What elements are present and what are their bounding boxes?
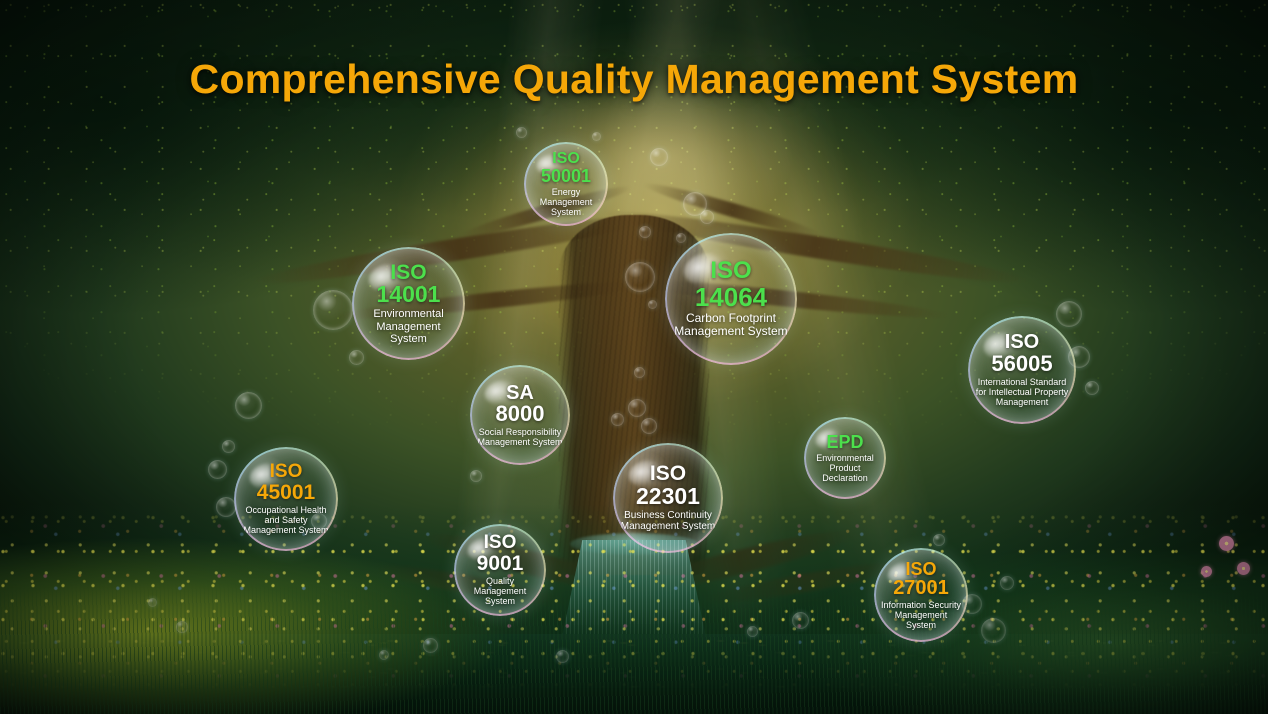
certification-code: ISO bbox=[710, 259, 751, 283]
certification-number: 8000 bbox=[496, 403, 545, 425]
certification-number: 27001 bbox=[893, 578, 949, 598]
certification-code: EPD bbox=[826, 433, 863, 451]
certification-code: ISO bbox=[650, 463, 686, 484]
certification-number: 9001 bbox=[477, 553, 524, 574]
poster-canvas: Comprehensive Quality Management System … bbox=[0, 0, 1268, 714]
certification-number: 22301 bbox=[636, 485, 700, 508]
certification-description: International Standard for Intellectual … bbox=[968, 377, 1076, 407]
certification-number: 56005 bbox=[991, 353, 1052, 375]
certification-code: ISO bbox=[270, 462, 303, 481]
certification-code: SA bbox=[506, 383, 534, 403]
certification-description: Social Responsibility Management System bbox=[470, 427, 570, 447]
certification-description: Energy Management System bbox=[524, 187, 608, 217]
certification-description: Environmental Management System bbox=[352, 308, 465, 345]
certification-bubble-iso-45001[interactable]: ISO45001Occupational Health and Safety M… bbox=[234, 447, 338, 551]
certification-description: Quality Management System bbox=[454, 576, 546, 606]
certification-bubbles-layer: ISO50001Energy Management SystemISO14001… bbox=[0, 0, 1268, 714]
certification-bubble-iso-27001[interactable]: ISO27001Information Security Management … bbox=[874, 548, 968, 642]
certification-number: 50001 bbox=[541, 167, 591, 185]
certification-description: Business Continuity Management System bbox=[613, 510, 723, 532]
certification-description: Occupational Health and Safety Managemen… bbox=[234, 505, 338, 535]
certification-code: ISO bbox=[552, 151, 580, 167]
certification-bubble-iso-14001[interactable]: ISO14001Environmental Management System bbox=[352, 247, 465, 360]
certification-number: 14064 bbox=[695, 284, 767, 311]
certification-number: 14001 bbox=[377, 283, 441, 306]
certification-code: ISO bbox=[484, 533, 517, 552]
certification-number: 45001 bbox=[257, 482, 315, 503]
certification-bubble-iso-9001[interactable]: ISO9001Quality Management System bbox=[454, 524, 546, 616]
certification-description: Environmental Product Declaration bbox=[804, 453, 886, 483]
certification-code: ISO bbox=[1005, 332, 1039, 352]
certification-bubble-epd[interactable]: EPDEnvironmental Product Declaration bbox=[804, 417, 886, 499]
certification-code: ISO bbox=[905, 560, 936, 578]
certification-bubble-iso-56005[interactable]: ISO56005International Standard for Intel… bbox=[968, 316, 1076, 424]
certification-bubble-iso-14064[interactable]: ISO14064Carbon Footprint Management Syst… bbox=[665, 233, 797, 365]
certification-bubble-iso-22301[interactable]: ISO22301Business Continuity Management S… bbox=[613, 443, 723, 553]
certification-description: Information Security Management System bbox=[874, 600, 968, 630]
certification-description: Carbon Footprint Management System bbox=[665, 312, 797, 339]
certification-bubble-sa-8000[interactable]: SA8000Social Responsibility Management S… bbox=[470, 365, 570, 465]
certification-bubble-iso-50001[interactable]: ISO50001Energy Management System bbox=[524, 142, 608, 226]
certification-code: ISO bbox=[390, 262, 426, 283]
